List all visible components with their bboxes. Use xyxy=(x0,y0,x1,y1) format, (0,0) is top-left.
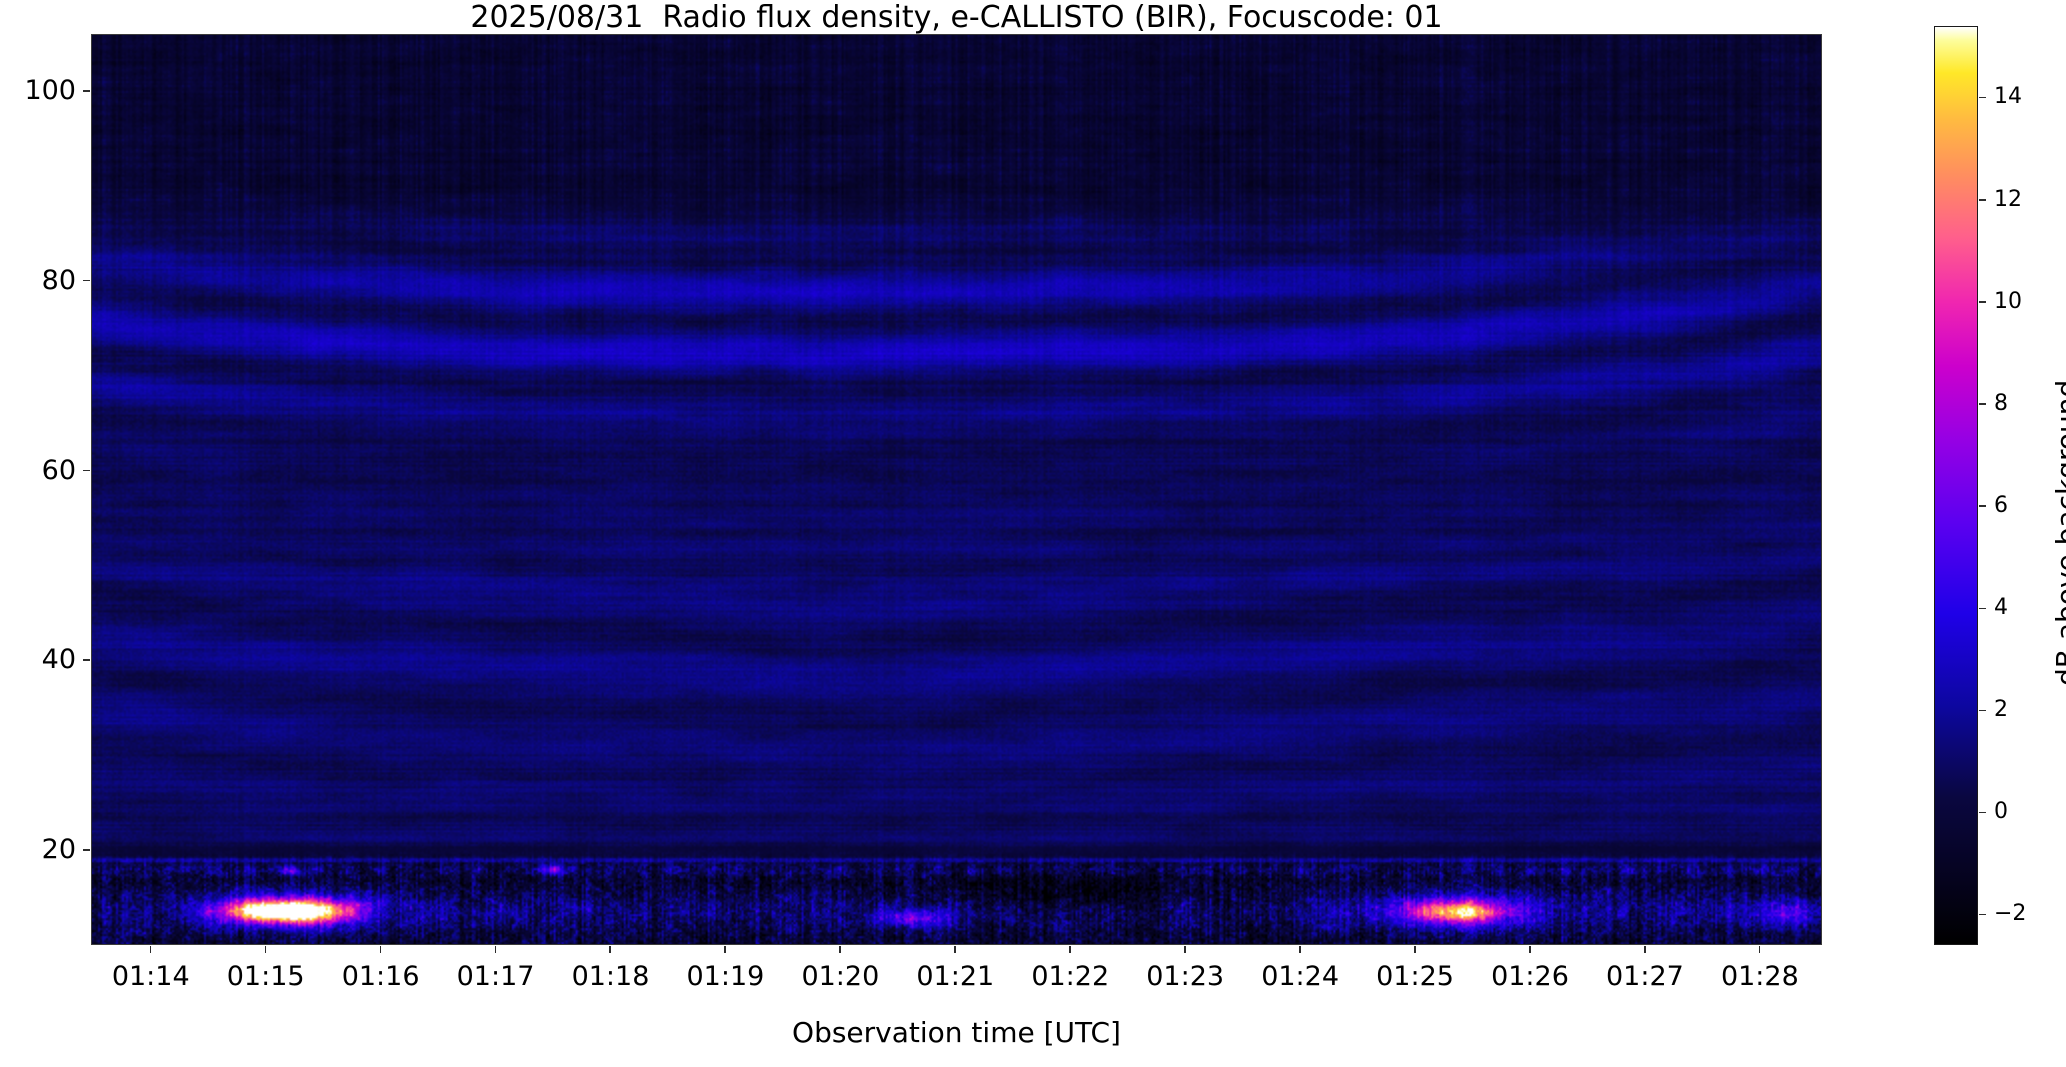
x-tick-mark xyxy=(1069,946,1071,953)
spectrogram-axes[interactable] xyxy=(91,34,1822,945)
x-tick-mark xyxy=(1414,946,1416,953)
colorbar-tick-label: 4 xyxy=(1994,597,2008,619)
x-tick-mark xyxy=(150,946,152,953)
colorbar-label: dB above background xyxy=(2050,379,2066,685)
colorbar-gradient xyxy=(1935,27,1977,944)
x-tick-mark xyxy=(265,946,267,953)
colorbar-tick-label: 12 xyxy=(1994,189,2022,211)
colorbar-tick-label: −2 xyxy=(1994,903,2026,925)
colorbar-tick-mark xyxy=(1979,97,1986,99)
colorbar-tick-mark xyxy=(1979,812,1986,814)
x-tick-mark xyxy=(495,946,497,953)
y-tick-label: 60 xyxy=(0,457,76,484)
colorbar-tick-mark xyxy=(1979,710,1986,712)
x-tick-mark xyxy=(1759,946,1761,953)
y-tick-mark xyxy=(83,90,90,92)
colorbar-tick-label: 8 xyxy=(1994,393,2008,415)
x-axis-label: Observation time [UTC] xyxy=(91,1016,1822,1049)
y-tick-label: 40 xyxy=(0,646,76,673)
colorbar-tick-label: 6 xyxy=(1994,495,2008,517)
colorbar-tick-label: 2 xyxy=(1994,699,2008,721)
x-tick-mark xyxy=(954,946,956,953)
x-tick-mark xyxy=(380,946,382,953)
colorbar-tick-mark xyxy=(1979,403,1986,405)
x-tick-label: 01:28 xyxy=(1690,963,1830,990)
y-tick-mark xyxy=(83,659,90,661)
x-tick-mark xyxy=(1644,946,1646,953)
y-tick-mark xyxy=(83,849,90,851)
spectrogram-image xyxy=(92,35,1821,944)
colorbar[interactable] xyxy=(1934,26,1978,945)
colorbar-tick-mark xyxy=(1979,199,1986,201)
y-tick-mark xyxy=(83,470,90,472)
y-tick-mark xyxy=(83,280,90,282)
x-tick-mark xyxy=(724,946,726,953)
x-tick-mark xyxy=(839,946,841,953)
y-tick-label: 100 xyxy=(0,77,76,104)
colorbar-tick-mark xyxy=(1979,301,1986,303)
colorbar-tick-label: 14 xyxy=(1994,86,2022,108)
x-tick-mark xyxy=(1184,946,1186,953)
x-tick-mark xyxy=(1529,946,1531,953)
x-tick-mark xyxy=(609,946,611,953)
x-tick-mark xyxy=(1299,946,1301,953)
colorbar-tick-mark xyxy=(1979,505,1986,507)
colorbar-tick-mark xyxy=(1979,608,1986,610)
figure-canvas: 2025/08/31 Radio flux density, e-CALLIST… xyxy=(0,0,2066,1067)
colorbar-tick-label: 0 xyxy=(1994,801,2008,823)
y-tick-label: 80 xyxy=(0,267,76,294)
colorbar-tick-mark xyxy=(1979,914,1986,916)
colorbar-tick-label: 10 xyxy=(1994,291,2022,313)
chart-title: 2025/08/31 Radio flux density, e-CALLIST… xyxy=(91,2,1822,34)
y-tick-label: 20 xyxy=(0,836,76,863)
